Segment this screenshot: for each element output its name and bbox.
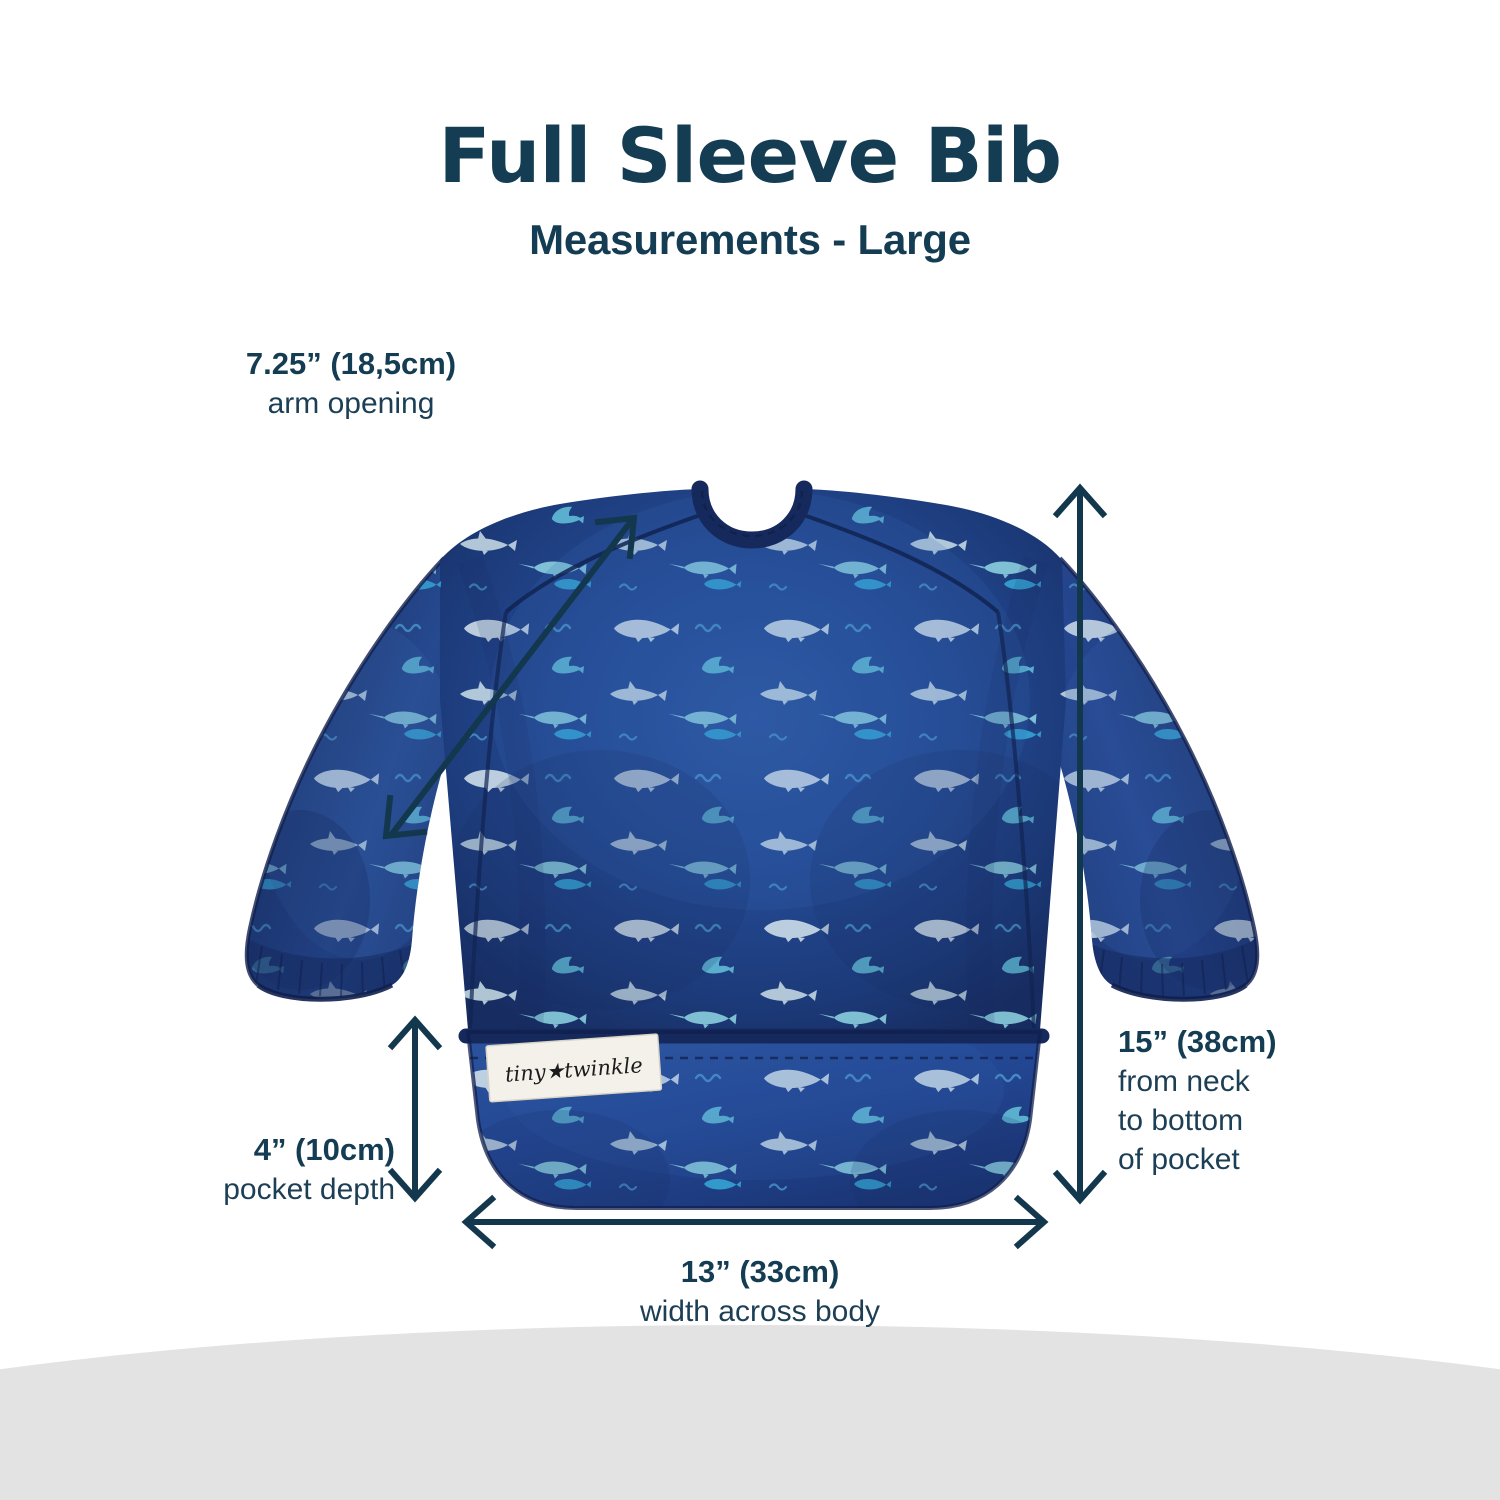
measurement-label-arm-opening: 7.25” (18,5cm) arm opening: [206, 344, 496, 423]
measurement-diagram-page: Full Sleeve Bib Measurements - Large: [0, 0, 1500, 1500]
raglan-seam-left: [506, 513, 706, 612]
brand-tag: tiny★twinkle: [486, 1034, 661, 1102]
arrow-arm-opening: [386, 518, 634, 836]
diagram-stage: Full Sleeve Bib Measurements - Large: [0, 0, 1500, 1500]
page-title: Full Sleeve Bib: [0, 112, 1500, 200]
arm-opening-value: 7.25” (18,5cm): [206, 344, 496, 384]
arrow-pocket-depth: [392, 1020, 438, 1198]
right-cuff: [1090, 938, 1258, 1000]
arrow-width-across-body: [466, 1199, 1044, 1245]
page-title-block: Full Sleeve Bib Measurements - Large: [0, 112, 1500, 266]
neck-to-pocket-description-line-3: of pocket: [1118, 1140, 1448, 1179]
bib-body: [430, 480, 1110, 1050]
neckline-binding: [700, 489, 804, 540]
width-across-body-description: width across body: [560, 1292, 960, 1331]
bib-right-sleeve: [970, 540, 1280, 1020]
left-cuff: [246, 938, 414, 1000]
measurement-label-pocket-depth: 4” (10cm) pocket depth: [110, 1130, 395, 1209]
pocket-depth-description: pocket depth: [110, 1170, 395, 1209]
neck-to-pocket-value: 15” (38cm): [1118, 1022, 1448, 1062]
measurement-label-width-across-body: 13” (33cm) width across body: [560, 1252, 960, 1331]
width-across-body-value: 13” (33cm): [560, 1252, 960, 1292]
measurement-label-neck-to-pocket: 15” (38cm) from neck to bottom of pocket: [1118, 1022, 1448, 1179]
pocket-depth-value: 4” (10cm): [110, 1130, 395, 1170]
arm-opening-description: arm opening: [206, 384, 496, 423]
bib-pocket: [450, 1000, 1070, 1250]
neck-to-pocket-description-line-1: from neck: [1118, 1062, 1448, 1101]
raglan-seam-right: [798, 513, 998, 612]
arrow-neck-to-pocket: [1057, 488, 1103, 1200]
brand-tag-text: tiny★twinkle: [504, 1053, 643, 1087]
page-subtitle: Measurements - Large: [0, 214, 1500, 266]
bib-left-sleeve: [230, 540, 530, 1020]
neck-to-pocket-description-line-2: to bottom: [1118, 1101, 1448, 1140]
